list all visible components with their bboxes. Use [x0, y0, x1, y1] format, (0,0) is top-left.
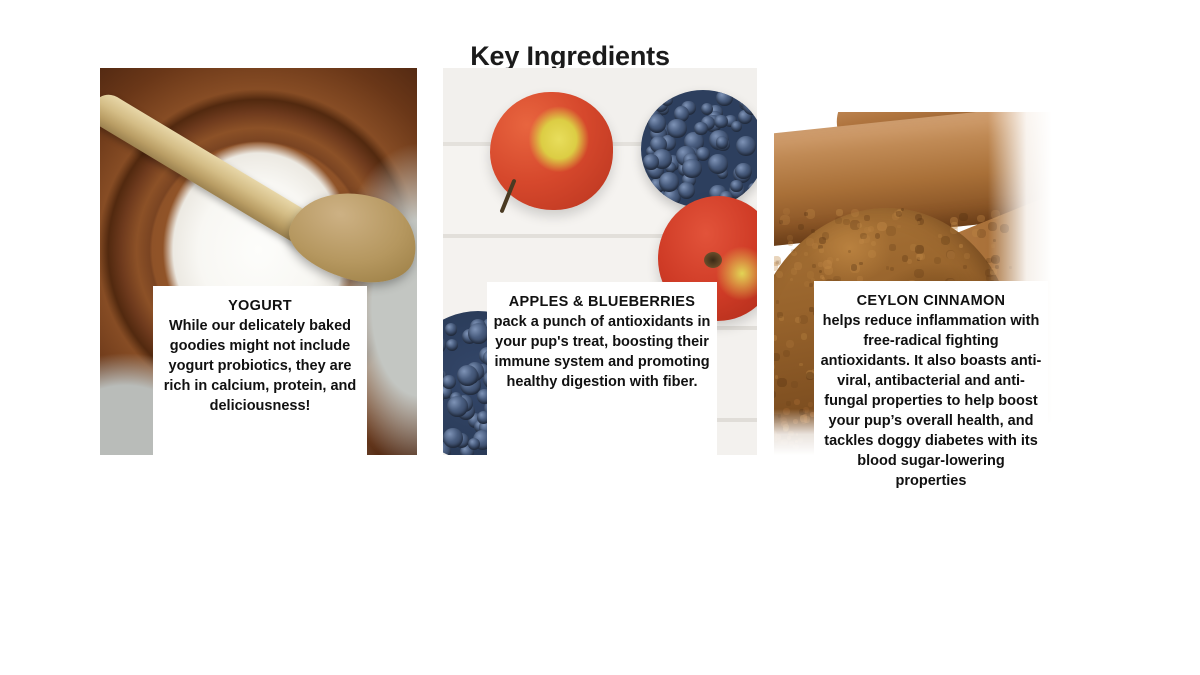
blueberry-shape [736, 136, 756, 156]
cinnamon-speck-shape [851, 264, 857, 270]
cinnamon-speck-shape [786, 401, 791, 406]
cinnamon-speck-shape [889, 244, 895, 250]
cinnamon-speck-shape [820, 275, 824, 279]
cinnamon-speck-shape [812, 243, 818, 249]
cinnamon-speck-shape [959, 213, 967, 221]
blueberry-shape [716, 90, 732, 106]
blueberry-shape [716, 136, 728, 148]
cinnamon-grain-shape [794, 399, 800, 405]
ceylon-cinnamon-caption: CEYLON CINNAMON helps reduce inflammatio… [814, 281, 1048, 593]
blueberry-bowl-top-shape [641, 90, 757, 208]
cinnamon-speck-shape [890, 267, 894, 271]
cinnamon-speck-shape [822, 232, 830, 240]
cinnamon-speck-shape [809, 283, 813, 287]
blueberry-shape [445, 323, 457, 335]
cinnamon-speck-shape [947, 251, 955, 259]
cinnamon-speck-shape [877, 222, 887, 232]
cinnamon-speck-shape [811, 229, 815, 233]
blueberry-shape [643, 154, 659, 170]
cinnamon-speck-shape [774, 335, 777, 340]
cinnamon-speck-shape [941, 236, 950, 245]
apples-blueberries-caption-body: pack a punch of antioxidants in your pup… [493, 312, 711, 392]
cinnamon-speck-shape [776, 271, 783, 278]
cinnamon-speck-shape [843, 219, 849, 225]
cinnamon-speck-shape [859, 262, 862, 265]
cinnamon-speck-shape [886, 266, 889, 269]
yogurt-caption-body: While our delicately baked goodies might… [159, 316, 361, 416]
cinnamon-speck-shape [776, 300, 779, 303]
blueberry-shape [682, 159, 702, 179]
apple-stem-shape [499, 179, 516, 214]
blueberry-shape [443, 375, 456, 389]
blueberries-cluster-top [641, 90, 757, 208]
cinnamon-speck-shape [804, 212, 808, 216]
blueberry-shape [667, 119, 686, 138]
yogurt-caption: YOGURT While our delicately baked goodie… [153, 286, 367, 455]
cinnamon-speck-shape [824, 266, 834, 276]
cinnamon-speck-shape [818, 262, 823, 267]
cinnamon-speck-shape [914, 269, 924, 279]
cinnamon-speck-shape [790, 278, 794, 282]
cinnamon-speck-shape [977, 215, 985, 223]
cinnamon-speck-shape [862, 235, 869, 242]
cinnamon-speck-shape [799, 363, 802, 366]
cinnamon-speck-shape [836, 209, 843, 216]
cinnamon-speck-shape [774, 364, 775, 370]
cinnamon-speck-shape [812, 264, 816, 268]
cinnamon-speck-shape [915, 245, 924, 254]
cinnamon-speck-shape [819, 248, 824, 253]
cinnamon-speck-shape [950, 226, 958, 234]
blueberry-shape [735, 163, 752, 180]
apples-blueberries-caption-title: APPLES & BLUEBERRIES [493, 292, 711, 312]
blueberry-shape [748, 183, 757, 195]
cinnamon-speck-shape [774, 256, 781, 265]
blueberry-shape [661, 94, 673, 106]
cinnamon-speck-shape [788, 241, 793, 246]
blueberry-shape [659, 172, 679, 192]
blueberry-shape [443, 428, 463, 448]
cinnamon-speck-shape [964, 253, 970, 259]
yogurt-caption-title: YOGURT [159, 296, 361, 316]
apple-top-left-shape [490, 92, 613, 210]
ceylon-cinnamon-caption-body: helps reduce inflammation with free-radi… [820, 311, 1042, 491]
blueberry-shape [678, 182, 695, 199]
blueberry-shape [647, 188, 660, 201]
cinnamon-speck-shape [804, 252, 808, 256]
cinnamon-speck-shape [896, 211, 902, 217]
cinnamon-speck-shape [791, 251, 797, 257]
cinnamon-speck-shape [902, 255, 908, 261]
apples-blueberries-caption: APPLES & BLUEBERRIES pack a punch of ant… [487, 282, 717, 455]
cinnamon-speck-shape [787, 235, 793, 241]
cinnamon-speck-shape [791, 381, 798, 388]
blueberry-shape [714, 115, 727, 128]
cinnamon-speck-shape [977, 229, 986, 238]
blueberry-shape [694, 122, 707, 135]
cinnamon-speck-shape [938, 234, 942, 238]
cinnamon-speck-shape [819, 270, 823, 274]
cinnamon-speck-shape [836, 258, 839, 261]
cinnamon-speck-shape [794, 262, 802, 270]
cinnamon-speck-shape [901, 208, 904, 211]
blueberry-shape [468, 438, 480, 450]
cinnamon-speck-shape [774, 353, 780, 361]
blueberry-shape [446, 339, 458, 351]
blueberry-shape [447, 396, 468, 417]
cinnamon-speck-shape [777, 312, 783, 318]
cinnamon-speck-shape [886, 226, 896, 236]
ceylon-cinnamon-caption-title: CEYLON CINNAMON [820, 291, 1042, 311]
cinnamon-speck-shape [807, 271, 815, 279]
cinnamon-speck-shape [798, 224, 804, 230]
cinnamon-speck-shape [857, 223, 862, 228]
blueberry-shape [708, 154, 728, 174]
cinnamon-speck-shape [868, 250, 876, 258]
cinnamon-speck-shape [806, 372, 814, 380]
cinnamon-speck-shape [917, 221, 920, 224]
cinnamon-speck-shape [775, 375, 779, 379]
cinnamon-speck-shape [868, 226, 874, 232]
cinnamon-speck-shape [779, 220, 783, 224]
cinnamon-speck-shape [801, 333, 807, 339]
cinnamon-speck-shape [963, 265, 967, 269]
cinnamon-speck-shape [934, 257, 941, 264]
cinnamon-speck-shape [871, 241, 876, 246]
cinnamon-speck-shape [786, 340, 794, 348]
cinnamon-speck-shape [959, 244, 963, 248]
cinnamon-speck-shape [783, 350, 790, 357]
cinnamon-speck-shape [774, 391, 776, 397]
cinnamon-grain-shape [808, 402, 813, 407]
key-ingredients-page: Key Ingredients YOGURT While our delicat… [0, 0, 1200, 675]
cinnamon-speck-shape [835, 217, 842, 224]
cinnamon-speck-shape [799, 315, 808, 324]
cinnamon-speck-shape [875, 233, 881, 239]
wooden-spoon-bowl-shape [281, 177, 417, 295]
cinnamon-speck-shape [848, 250, 851, 253]
cinnamon-speck-shape [851, 209, 859, 217]
cinnamon-speck-shape [777, 378, 786, 387]
cinnamon-speck-shape [897, 225, 900, 228]
blueberry-shape [743, 97, 757, 115]
apple-navel-shape [704, 252, 722, 268]
cinnamon-speck-shape [864, 215, 870, 221]
